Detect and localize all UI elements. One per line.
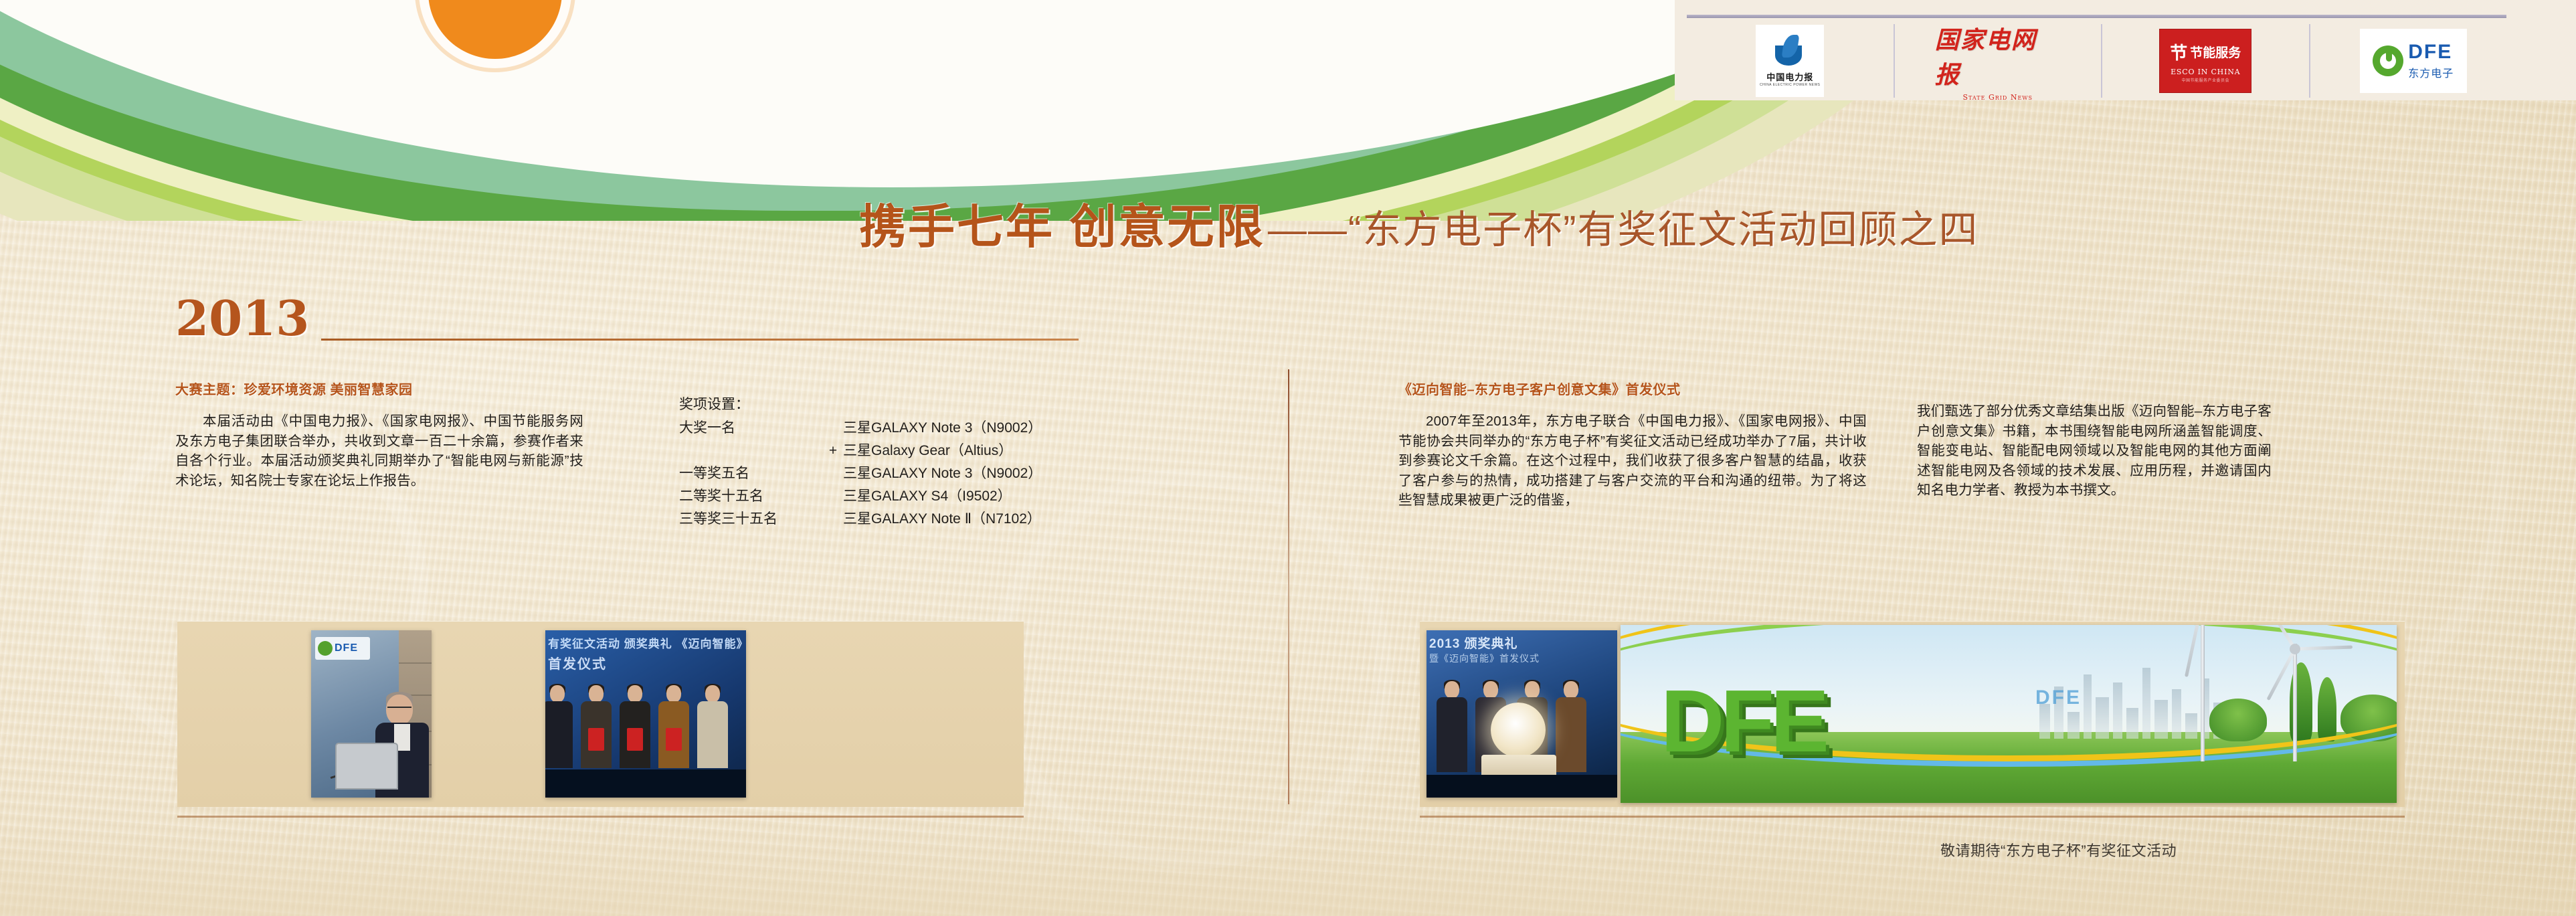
photo-band-left: DFE 有奖征文活动 颁奖典礼 《迈向智能》 首发仪式 首发仪式 [177, 621, 1024, 807]
awards-heading: 奖项设置： [679, 393, 1241, 414]
dfe-logo-icon: DFE [315, 637, 370, 660]
logo-china-electric-power-news[interactable]: 中国电力报 CHINA ELECTRIC POWER NEWS [1687, 24, 1895, 98]
award-plus: + [823, 443, 843, 459]
photo-book-launch-ceremony[interactable]: 2013 颁奖典礼 暨《迈向智能》首发仪式 [1427, 630, 1617, 798]
logo-label-cn: 中国电力报 [1766, 70, 1813, 83]
logo-label-cn: 东方电子 [2408, 64, 2454, 80]
competition-theme-body: 本届活动由《中国电力报》、《国家电网报》、中国节能服务网及东方电子集团联合举办，… [175, 411, 583, 490]
photo-forum-speaker[interactable]: DFE [311, 630, 432, 798]
award-label: 三等奖三十五名 [679, 508, 823, 528]
award-label: 大奖一名 [679, 417, 823, 437]
logo-label-cn: 国家电网报 [1935, 21, 2061, 90]
wind-turbine [2255, 644, 2335, 761]
book-launch-body-part2: 我们甄选了部分优秀文章结集出版《迈向智能–东方电子客户创意文集》书籍，本书围绕智… [1917, 401, 2272, 500]
esco-mark-icon: 节 [2170, 39, 2187, 64]
column-awards: 奖项设置： 大奖一名 三星GALAXY Note 3（N9002） + 三星Ga… [679, 393, 1241, 528]
page-bottom-shade [0, 828, 2576, 916]
ceremony-light-orb [1491, 703, 1546, 757]
stage-floor [1427, 775, 1617, 798]
backdrop-text-line2: 首发仪式 [548, 653, 607, 672]
photo-band-right: 2013 颁奖典礼 暨《迈向智能》首发仪式 [1420, 621, 2405, 807]
page-title-main: 携手七年 创意无限 [859, 201, 1265, 253]
logo-label-cn: 节能服务 [2190, 43, 2241, 61]
glasses-icon [387, 707, 411, 712]
year-value: 2013 [175, 290, 309, 347]
year-underline [321, 339, 1079, 341]
logo-state-grid-news[interactable]: 国家电网报 State Grid News [1895, 24, 2103, 98]
logo-label-en: ESCO IN CHINA [2171, 68, 2240, 76]
backdrop-text-line2: 暨《迈向智能》首发仪式 [1429, 652, 1540, 665]
award-prize: 三星GALAXY Note 3（N9002） [843, 417, 1241, 437]
photo-band-rule [1420, 816, 2405, 818]
logo-label-en: State Grid News [1963, 93, 2033, 102]
dfe-3d-logo: DFE [1661, 677, 1825, 765]
competition-theme-heading: 大赛主题：珍爱环境资源 美丽智慧家园 [175, 379, 583, 398]
cepn-mark-icon [1772, 35, 1807, 68]
year-heading: 2013 [175, 295, 1079, 347]
book-launch-body-part1: 2007年至2013年，东方电子联合《中国电力报》、《国家电网报》、中国节能协会… [1398, 411, 1867, 511]
logo-bar-rule [1687, 15, 2506, 18]
page-title-sub: ——“东方电子杯”有奖征文活动回顾之四 [1268, 208, 1979, 252]
dfe-ring-icon [2373, 45, 2403, 76]
logo-esco-in-china[interactable]: 节 节能服务 ESCO IN CHINA 中国节能服务产业委员会 [2102, 24, 2310, 98]
stage-floor [545, 769, 746, 798]
book-launch-heading: 《迈向智能–东方电子客户创意文集》首发仪式 [1398, 379, 1867, 398]
backdrop-text-line1: 2013 颁奖典礼 [1429, 634, 1518, 652]
photo-band-rule [177, 816, 1024, 818]
awards-table: 大奖一名 三星GALAXY Note 3（N9002） + 三星Galaxy G… [679, 417, 1241, 528]
paper-watermark [990, 468, 1392, 870]
award-prize: 三星GALAXY Note 3（N9002） [843, 462, 1241, 482]
logo-label-cn-sub: 中国节能服务产业委员会 [2181, 77, 2229, 83]
logo-dfe-dongfang-electronics[interactable]: DFE 东方电子 [2310, 24, 2517, 98]
laptop-icon [335, 743, 398, 790]
award-prize: 三星GALAXY Note Ⅱ（N7102） [843, 508, 1241, 528]
photo-award-winners-group[interactable]: 有奖征文活动 颁奖典礼 《迈向智能》 首发仪式 首发仪式 [545, 630, 746, 798]
photo-dfe-green-energy[interactable]: DFE DFE [1621, 625, 2397, 803]
logo-label-en: CHINA ELECTRIC POWER NEWS [1760, 83, 1821, 87]
column-book-launch-continued: 我们甄选了部分优秀文章结集出版《迈向智能–东方电子客户创意文集》书籍，本书围绕智… [1917, 401, 2272, 500]
award-prize: 三星GALAXY S4（I9502） [843, 485, 1241, 505]
logo-label-en: DFE [2408, 42, 2454, 62]
backdrop-text-line1: 有奖征文活动 颁奖典礼 《迈向智能》 首发仪式 [548, 634, 746, 651]
wind-turbine [2149, 625, 2256, 761]
poster-page: 中国电力报 CHINA ELECTRIC POWER NEWS 国家电网报 St… [0, 0, 2576, 916]
award-label: 二等奖十五名 [679, 485, 823, 505]
column-competition-theme: 大赛主题：珍爱环境资源 美丽智慧家园 本届活动由《中国电力报》、《国家电网报》、… [175, 379, 583, 490]
partner-logo-bar: 中国电力报 CHINA ELECTRIC POWER NEWS 国家电网报 St… [1675, 0, 2576, 100]
dfe-watermark-logo: DFE [2035, 686, 2082, 709]
award-prize: 三星Galaxy Gear（Altius） [843, 440, 1241, 460]
award-label: 一等奖五名 [679, 462, 823, 482]
page-title: 携手七年 创意无限 ——“东方电子杯”有奖征文活动回顾之四 [859, 198, 2264, 256]
column-book-launch: 《迈向智能–东方电子客户创意文集》首发仪式 2007年至2013年，东方电子联合… [1398, 379, 1867, 511]
section-divider [1288, 369, 1289, 804]
